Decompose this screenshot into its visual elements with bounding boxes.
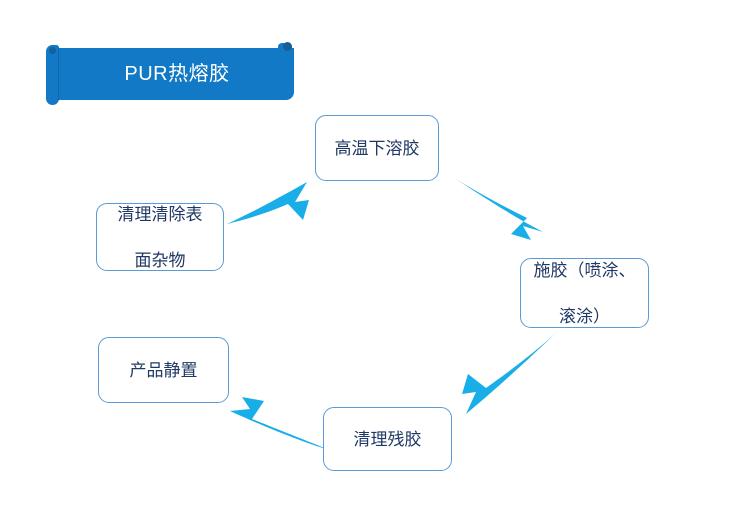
arrow-clean-to-melt bbox=[225, 168, 325, 230]
node-product-rest[interactable]: 产品静置 bbox=[98, 337, 229, 403]
arrow-apply-to-residue bbox=[442, 328, 562, 420]
node-label-clean-surface-line2: 面杂物 bbox=[103, 249, 217, 272]
banner-left-spine bbox=[46, 45, 59, 105]
node-clean-surface[interactable]: 清理清除表 面杂物 bbox=[96, 203, 224, 271]
node-label-clean-residue: 清理残胶 bbox=[330, 428, 445, 451]
node-label-melt-high-temp: 高温下溶胶 bbox=[322, 137, 432, 160]
banner-title-text: PUR热熔胶 bbox=[60, 48, 294, 100]
node-label-clean-surface-line1: 清理清除表 bbox=[103, 203, 217, 226]
node-clean-residue[interactable]: 清理残胶 bbox=[323, 407, 452, 471]
node-melt-high-temp[interactable]: 高温下溶胶 bbox=[315, 115, 439, 181]
node-label-apply-glue-line1: 施胶（喷涂、 bbox=[527, 259, 642, 282]
arrow-melt-to-apply bbox=[443, 170, 571, 250]
title-banner: PUR热熔胶 bbox=[46, 45, 294, 100]
arrow-residue-to-rest bbox=[222, 395, 334, 455]
node-label-product-rest: 产品静置 bbox=[105, 359, 222, 382]
node-label-apply-glue-line2: 滚涂） bbox=[527, 305, 642, 328]
node-apply-glue[interactable]: 施胶（喷涂、 滚涂） bbox=[520, 258, 649, 328]
diagram-canvas: PUR热熔胶 高温下溶胶 清理清除表 面杂物 施胶（喷涂、 滚涂） 产品静置 清… bbox=[0, 0, 744, 505]
banner-left-knob-icon bbox=[49, 47, 56, 54]
